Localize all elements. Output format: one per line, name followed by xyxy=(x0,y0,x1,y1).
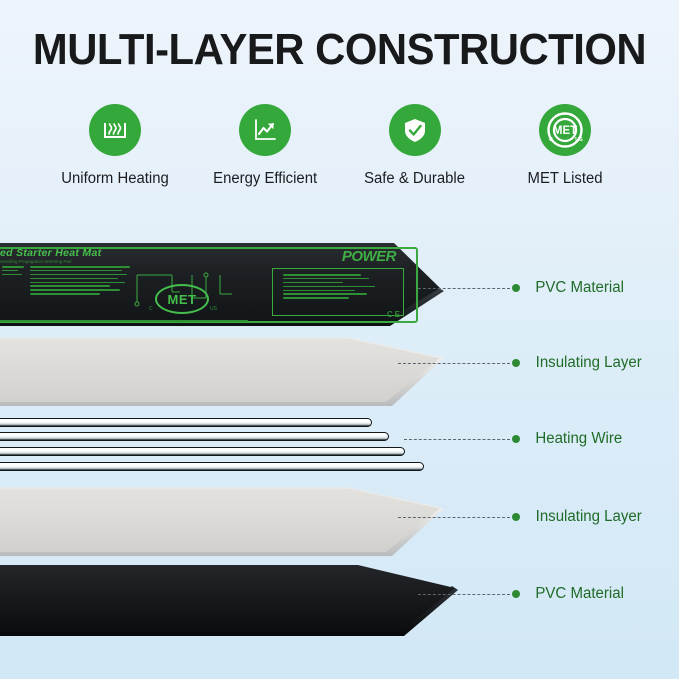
layer-pvc-material-bottom xyxy=(0,562,460,644)
mat-product-title: ed Starter Heat Mat xyxy=(0,247,101,259)
layer-insulating-lower xyxy=(0,486,445,564)
exploded-layer-diagram: ed Starter Heat Mat Seedling Propagation… xyxy=(0,0,679,679)
mat-cert-marks: CE xyxy=(387,310,402,319)
callout-insulating-layer-upper: Insulating Layer xyxy=(398,355,643,371)
heating-wire-strand xyxy=(0,462,424,471)
callout-dot xyxy=(512,590,520,598)
layer-insulating-upper xyxy=(0,336,445,414)
callout-dot xyxy=(512,359,520,367)
mat-met-badge: MET C US xyxy=(155,284,209,314)
callout-label: Heating Wire xyxy=(535,430,622,448)
mat-product-subtitle: Seedling Propagation Warming Pad xyxy=(0,259,71,264)
callout-leader-line xyxy=(418,594,510,595)
mat-footer-rule xyxy=(0,320,248,322)
callout-dot xyxy=(512,435,520,443)
callout-label: PVC Material xyxy=(535,585,624,603)
callout-heating-wire: Heating Wire xyxy=(404,431,624,447)
mat-text-block-main xyxy=(30,266,130,297)
layer-pvc-material-top: ed Starter Heat Mat Seedling Propagation… xyxy=(0,240,444,332)
callout-pvc-material-top: PVC Material xyxy=(418,280,625,296)
mat-brand-text: POWER xyxy=(342,248,396,265)
mat-printed-artwork: ed Starter Heat Mat Seedling Propagation… xyxy=(0,240,444,332)
callout-leader-line xyxy=(418,288,510,289)
mat-spec-box xyxy=(272,268,404,316)
callout-label: PVC Material xyxy=(535,279,624,297)
heating-wire-strand xyxy=(0,418,372,427)
callout-dot xyxy=(512,284,520,292)
callout-leader-line xyxy=(398,363,510,364)
callout-leader-line xyxy=(398,517,510,518)
layer-heating-wire xyxy=(0,418,460,474)
callout-insulating-layer-lower: Insulating Layer xyxy=(398,509,643,525)
heating-wire-strand xyxy=(0,447,405,456)
heating-wire-strand xyxy=(0,432,389,441)
callout-dot xyxy=(512,513,520,521)
callout-leader-line xyxy=(404,439,510,440)
callout-pvc-material-bottom: PVC Material xyxy=(418,586,625,602)
callout-label: Insulating Layer xyxy=(536,508,642,526)
met-badge-text: MET xyxy=(155,284,209,314)
mat-text-block-left xyxy=(2,266,24,278)
met-badge-c: C xyxy=(149,306,153,312)
callout-label: Insulating Layer xyxy=(536,354,642,372)
met-badge-us: US xyxy=(210,306,217,312)
